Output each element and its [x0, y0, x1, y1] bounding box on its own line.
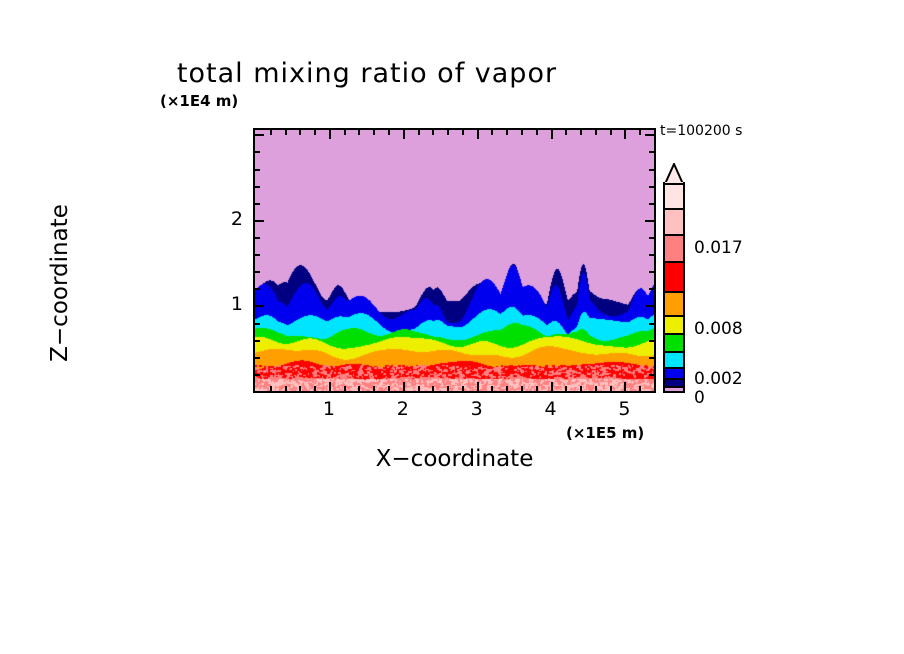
- x-tick-top: [595, 130, 597, 135]
- x-tick: [521, 386, 523, 391]
- x-tick-label: 3: [457, 398, 497, 420]
- x-tick-label: 5: [604, 398, 644, 420]
- y-tick: [255, 357, 260, 359]
- y-tick-right: [645, 305, 654, 307]
- colorbar-separator: [663, 315, 685, 317]
- colorbar-tick-label: 0.002: [694, 369, 743, 389]
- x-tick-top: [610, 130, 612, 135]
- x-tick-top: [521, 130, 523, 135]
- y-tick: [255, 220, 264, 222]
- colorbar-band: [663, 291, 685, 315]
- colorbar-band: [663, 234, 685, 260]
- x-tick: [403, 382, 405, 391]
- x-tick-top: [624, 130, 626, 139]
- y-tick: [255, 134, 264, 136]
- y-tick: [255, 254, 260, 256]
- x-tick-top: [388, 130, 390, 135]
- colorbar-separator: [663, 378, 685, 380]
- x-tick-top: [506, 130, 508, 135]
- colorbar-band: [663, 315, 685, 333]
- y-axis-unit-label: (×1E4 m): [160, 92, 238, 110]
- x-tick: [462, 386, 464, 391]
- y-tick-right: [649, 186, 654, 188]
- x-tick: [595, 386, 597, 391]
- y-tick: [255, 374, 260, 376]
- y-tick-right: [649, 203, 654, 205]
- colorbar-band: [663, 261, 685, 291]
- y-tick-right: [645, 220, 654, 222]
- y-tick: [255, 271, 260, 273]
- y-tick: [255, 237, 260, 239]
- x-tick: [388, 386, 390, 391]
- y-tick-right: [649, 271, 654, 273]
- colorbar-band: [663, 182, 685, 208]
- x-tick: [610, 386, 612, 391]
- x-tick-top: [536, 130, 538, 135]
- x-tick: [432, 386, 434, 391]
- colorbar-tick-label: 0: [694, 388, 705, 408]
- colorbar-tick-label: 0.008: [694, 319, 743, 339]
- x-tick-top: [477, 130, 479, 139]
- x-axis-unit-label: (×1E5 m): [566, 424, 644, 442]
- x-tick: [565, 386, 567, 391]
- colorbar-separator: [663, 208, 685, 210]
- x-tick: [270, 386, 272, 391]
- x-tick-top: [314, 130, 316, 135]
- x-tick: [329, 382, 331, 391]
- colorbar-separator: [663, 386, 685, 388]
- x-tick-top: [373, 130, 375, 135]
- time-annotation: t=100200 s: [660, 123, 742, 139]
- x-tick: [358, 386, 360, 391]
- x-tick-top: [329, 130, 331, 139]
- y-tick: [255, 305, 264, 307]
- y-tick: [255, 186, 260, 188]
- y-tick-right: [649, 288, 654, 290]
- x-tick: [447, 386, 449, 391]
- y-tick-right: [649, 340, 654, 342]
- page-title: total mixing ratio of vapor: [0, 58, 904, 89]
- colorbar-band: [663, 208, 685, 234]
- y-tick: [255, 203, 260, 205]
- y-tick-right: [649, 169, 654, 171]
- x-tick: [580, 386, 582, 391]
- y-tick-right: [649, 357, 654, 359]
- x-tick-top: [639, 130, 641, 135]
- x-tick: [624, 382, 626, 391]
- colorbar-separator: [663, 367, 685, 369]
- x-tick-top: [344, 130, 346, 135]
- x-tick: [285, 386, 287, 391]
- colorbar-separator: [663, 234, 685, 236]
- x-tick: [639, 386, 641, 391]
- y-tick: [255, 169, 260, 171]
- y-tick: [255, 288, 260, 290]
- y-tick-right: [649, 323, 654, 325]
- x-tick-top: [447, 130, 449, 135]
- y-tick: [255, 340, 260, 342]
- y-tick-label: 2: [203, 208, 243, 230]
- colorbar-band: [663, 333, 685, 351]
- x-axis-title: X−coordinate: [253, 446, 656, 472]
- colorbar-separator: [663, 291, 685, 293]
- x-tick: [299, 386, 301, 391]
- colorbar-arrow-cap: [663, 163, 685, 184]
- x-tick-top: [299, 130, 301, 135]
- x-tick-top: [432, 130, 434, 135]
- colorbar-band: [663, 351, 685, 367]
- x-tick: [314, 386, 316, 391]
- x-tick-top: [403, 130, 405, 139]
- y-tick-right: [645, 134, 654, 136]
- contour-plot-area: [253, 128, 656, 393]
- x-tick-label: 2: [383, 398, 423, 420]
- x-tick-label: 1: [309, 398, 349, 420]
- colorbar-separator: [663, 261, 685, 263]
- x-tick: [491, 386, 493, 391]
- colorbar-separator: [663, 351, 685, 353]
- colorbar-tick-label: 0.017: [694, 238, 743, 258]
- colorbar: [663, 183, 685, 393]
- colorbar-separator: [663, 333, 685, 335]
- x-tick: [506, 386, 508, 391]
- x-tick-top: [565, 130, 567, 135]
- x-tick-top: [580, 130, 582, 135]
- x-tick-top: [285, 130, 287, 135]
- x-tick: [536, 386, 538, 391]
- colorbar-bottom-border: [663, 391, 685, 393]
- x-tick-label: 4: [531, 398, 571, 420]
- y-axis-title: Z−coordinate: [47, 183, 73, 383]
- x-tick: [551, 382, 553, 391]
- x-tick-top: [270, 130, 272, 135]
- y-tick-right: [649, 374, 654, 376]
- x-tick: [418, 386, 420, 391]
- x-tick: [477, 382, 479, 391]
- y-tick-label: 1: [203, 293, 243, 315]
- y-tick-right: [649, 237, 654, 239]
- x-tick-top: [418, 130, 420, 135]
- x-tick-top: [491, 130, 493, 135]
- y-tick-right: [649, 151, 654, 153]
- x-tick-top: [551, 130, 553, 139]
- x-tick: [373, 386, 375, 391]
- contour-field: [255, 130, 654, 391]
- x-tick-top: [462, 130, 464, 135]
- colorbar-top-border: [663, 183, 685, 185]
- y-tick: [255, 323, 260, 325]
- y-tick: [255, 151, 260, 153]
- y-tick-right: [649, 254, 654, 256]
- x-tick: [344, 386, 346, 391]
- x-tick-top: [358, 130, 360, 135]
